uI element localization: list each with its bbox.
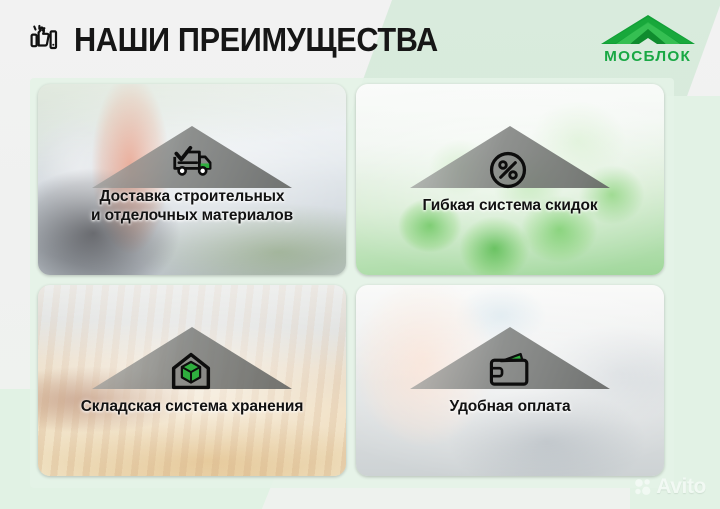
avito-dots-icon [634,478,652,496]
card-title-storage: Складская система хранения [69,398,316,417]
avito-wordmark: Avito [656,475,706,499]
brand-logo[interactable]: МОСБЛОК [600,13,702,65]
thumbs-up-icon [26,23,60,57]
delivery-truck-icon [169,140,215,182]
card-title-payment: Удобная оплата [438,398,583,417]
card-title-discounts: Гибкая система скидок [410,197,609,216]
mosblok-roof-logo-icon [600,13,696,47]
warehouse-box-icon [169,350,215,392]
advantage-card-delivery[interactable]: Доставка строительных и отделочных матер… [38,84,346,275]
advantage-card-storage[interactable]: Складская система хранения [38,285,346,476]
percent-circle-icon [487,149,533,191]
card-title-delivery: Доставка строительных и отделочных матер… [79,188,305,226]
wallet-icon [487,350,533,392]
advantage-card-payment[interactable]: Удобная оплата [356,285,664,476]
page-title: НАШИ ПРЕИМУЩЕСТВА [74,23,438,56]
card-title-line2: и отделочных материалов [91,207,293,226]
brand-name: МОСБЛОК [605,48,692,65]
advantages-grid: Доставка строительных и отделочных матер… [38,84,664,476]
avito-watermark: Avito [634,475,706,499]
card-title-line1: Гибкая система скидок [422,197,597,216]
header-bar: НАШИ ПРЕИМУЩЕСТВА МОСБЛОК [0,0,720,78]
card-title-line1: Складская система хранения [81,398,304,417]
card-title-line1: Удобная оплата [450,398,571,417]
card-title-line1: Доставка строительных [91,188,293,207]
advantage-card-discounts[interactable]: Гибкая система скидок [356,84,664,275]
